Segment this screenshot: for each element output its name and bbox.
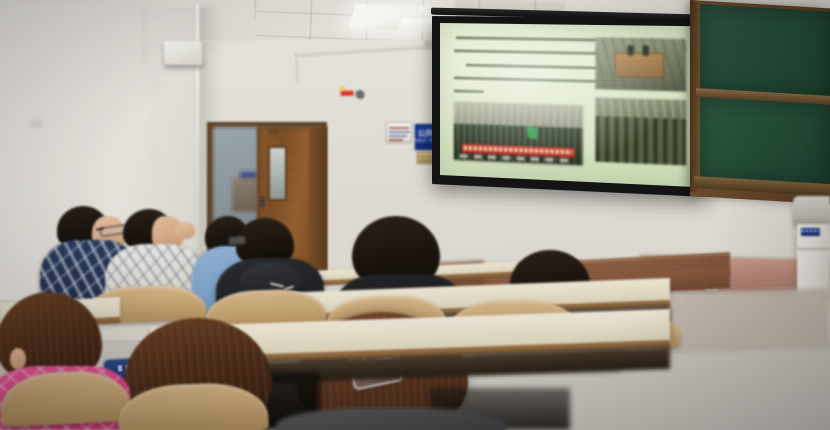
speaker-red-indicator xyxy=(340,91,353,96)
slide-text-line-5 xyxy=(454,89,484,93)
wall-speaker-icon xyxy=(164,41,203,66)
conduit-pipe-lower-icon xyxy=(152,60,155,190)
p4-glasses-icon xyxy=(228,235,247,246)
conduit-pipe-icon xyxy=(143,6,146,64)
monument-figure-2 xyxy=(642,45,648,56)
door-vision-panel xyxy=(268,146,287,201)
door-right-jamb xyxy=(309,127,327,272)
speaker-grille-icon xyxy=(355,90,365,99)
projection-screen-surface xyxy=(440,23,697,187)
placard-line-4 xyxy=(389,139,403,141)
p2-hand xyxy=(175,222,195,239)
monument-figure-1 xyxy=(627,45,633,56)
wall-notice-placard xyxy=(386,122,412,142)
door-top-marking xyxy=(270,130,278,134)
corridor-box xyxy=(232,178,258,212)
slide-photo-monument xyxy=(595,37,686,91)
placard-line-2 xyxy=(389,131,410,133)
slide-photo-troops xyxy=(595,97,686,165)
wall-sensor-icon xyxy=(30,118,42,127)
p6-shoulders xyxy=(276,408,506,430)
monument-board xyxy=(615,52,665,78)
placard-line-3 xyxy=(389,135,407,137)
chalkboard-upper-panel xyxy=(700,4,830,98)
classroom-photo: 公共电话 PUBLIC TELEPHONE xyxy=(0,0,830,430)
lectern-top xyxy=(793,196,830,226)
placard-line-1 xyxy=(389,127,409,129)
lectern-seam xyxy=(797,248,830,250)
troops-formation xyxy=(595,116,686,165)
lectern-sticker xyxy=(801,228,820,236)
slide-photo-group xyxy=(454,101,583,165)
chalkboard-lower-panel xyxy=(700,97,830,187)
speaker-yellow-label xyxy=(339,87,345,90)
door-handle-icon[interactable] xyxy=(260,196,265,208)
lectern-sticker-text xyxy=(802,230,819,232)
